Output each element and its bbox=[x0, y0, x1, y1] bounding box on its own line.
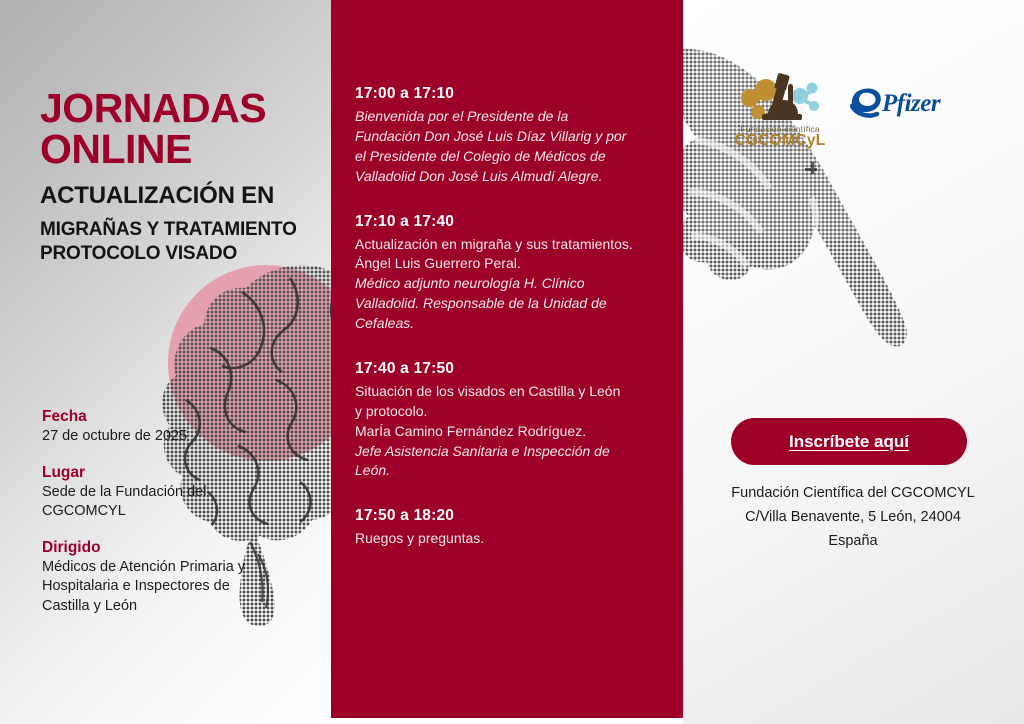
address-line-3: España bbox=[693, 531, 1013, 552]
info-item-fecha: Fecha 27 de octubre de 2025 bbox=[42, 408, 304, 447]
page-subtitle: ACTUALIZACIÓN EN bbox=[40, 181, 330, 211]
address-block: Fundación Científica del CGCOMCYL C/Vill… bbox=[693, 483, 1013, 555]
address-line-2: C/Villa Benavente, 5 León, 24004 bbox=[693, 507, 1013, 528]
program-item: 17:50 a 18:20Ruegos y preguntas. bbox=[355, 507, 655, 549]
info-label-dirigido: Dirigido bbox=[42, 539, 304, 557]
program-item-line: Actualización en migraña y sus tratamien… bbox=[355, 235, 655, 255]
page-title-line1: JORNADAS bbox=[40, 88, 330, 128]
program-item-line: Bienvenida por el Presidente de la bbox=[355, 107, 655, 127]
program-item-line: Situación de los visados en Castilla y L… bbox=[355, 382, 655, 402]
page-title-line2: ONLINE bbox=[40, 128, 330, 171]
program-item-time: 17:50 a 18:20 bbox=[355, 507, 655, 525]
program-item: 17:40 a 17:50Situación de los visados en… bbox=[355, 360, 655, 481]
address-line-1: Fundación Científica del CGCOMCYL bbox=[693, 483, 1013, 504]
left-panel: JORNADAS ONLINE ACTUALIZACIÓN EN MIGRAÑA… bbox=[0, 0, 331, 724]
info-value-dirigido-line3: Castilla y León bbox=[42, 597, 304, 617]
register-button[interactable]: Inscríbete aquí bbox=[731, 418, 967, 465]
program-item-line: Médico adjunto neurología H. Clínico bbox=[355, 274, 655, 294]
program-item-line: MarÍa Camino Fernández Rodríguez. bbox=[355, 422, 655, 442]
register-button-label: Inscríbete aquí bbox=[789, 432, 909, 452]
program-panel: 17:00 a 17:10Bienvenida por el President… bbox=[331, 0, 683, 718]
program-item-line: Ruegos y preguntas. bbox=[355, 529, 655, 549]
sponsor-logos: Fundación científica CGCOMCyL Pfizer bbox=[728, 72, 988, 150]
program-list: 17:00 a 17:10Bienvenida por el President… bbox=[355, 85, 655, 575]
pfizer-wordmark: Pfizer bbox=[882, 90, 940, 118]
pfizer-swirl-icon bbox=[850, 86, 882, 120]
program-item-line: el Presidente del Colegio de Médicos de bbox=[355, 147, 655, 167]
program-item-time: 17:00 a 17:10 bbox=[355, 85, 655, 103]
program-item-line: Fundación Don José Luis Díaz Villarig y … bbox=[355, 127, 655, 147]
program-item-line: Valladolid. Responsable de la Unidad de bbox=[355, 294, 655, 314]
cgcomcyl-logo: Fundación científica CGCOMCyL bbox=[728, 72, 832, 154]
program-item-line: Valladolid Don José Luis Almudí Alegre. bbox=[355, 167, 655, 187]
title-block: JORNADAS ONLINE ACTUALIZACIÓN EN MIGRAÑA… bbox=[40, 88, 330, 266]
info-item-dirigido: Dirigido Médicos de Atención Primaria y … bbox=[42, 539, 304, 617]
info-value-dirigido-line2: Hospitalaria e Inspectores de bbox=[42, 577, 304, 597]
microscope-icon bbox=[728, 72, 832, 127]
program-item-line: Cefaleas. bbox=[355, 314, 655, 334]
program-item-line: Jefe Asistencia Sanitaria e Inspección d… bbox=[355, 442, 655, 462]
info-label-lugar: Lugar bbox=[42, 464, 304, 482]
program-item-line: y protocolo. bbox=[355, 402, 655, 422]
info-value-lugar-line1: Sede de la Fundación del bbox=[42, 483, 304, 503]
right-panel: Fundación científica CGCOMCyL Pfizer bbox=[683, 0, 1024, 724]
pfizer-logo: Pfizer bbox=[850, 86, 945, 131]
cgcomcyl-logo-name: CGCOMCyL bbox=[728, 132, 832, 150]
info-value-lugar-line2: CGCOMCYL bbox=[42, 502, 304, 522]
event-poster: JORNADAS ONLINE ACTUALIZACIÓN EN MIGRAÑA… bbox=[0, 0, 1024, 724]
program-item-line: Ángel Luis Guerrero Peral. bbox=[355, 254, 655, 274]
program-item: 17:10 a 17:40Actualización en migraña y … bbox=[355, 213, 655, 334]
event-info-block: Fecha 27 de octubre de 2025 Lugar Sede d… bbox=[42, 408, 304, 633]
program-item: 17:00 a 17:10Bienvenida por el President… bbox=[355, 85, 655, 187]
program-item-time: 17:40 a 17:50 bbox=[355, 360, 655, 378]
program-item-line: León. bbox=[355, 461, 655, 481]
page-subtitle-line1: MIGRAÑAS Y TRATAMIENTO bbox=[40, 218, 330, 242]
info-item-lugar: Lugar Sede de la Fundación del CGCOMCYL bbox=[42, 464, 304, 522]
page-subtitle-line2: PROTOCOLO VISADO bbox=[40, 242, 330, 266]
info-value-fecha: 27 de octubre de 2025 bbox=[42, 427, 304, 447]
program-item-time: 17:10 a 17:40 bbox=[355, 213, 655, 231]
info-value-dirigido-line1: Médicos de Atención Primaria y bbox=[42, 558, 304, 578]
info-label-fecha: Fecha bbox=[42, 408, 304, 426]
